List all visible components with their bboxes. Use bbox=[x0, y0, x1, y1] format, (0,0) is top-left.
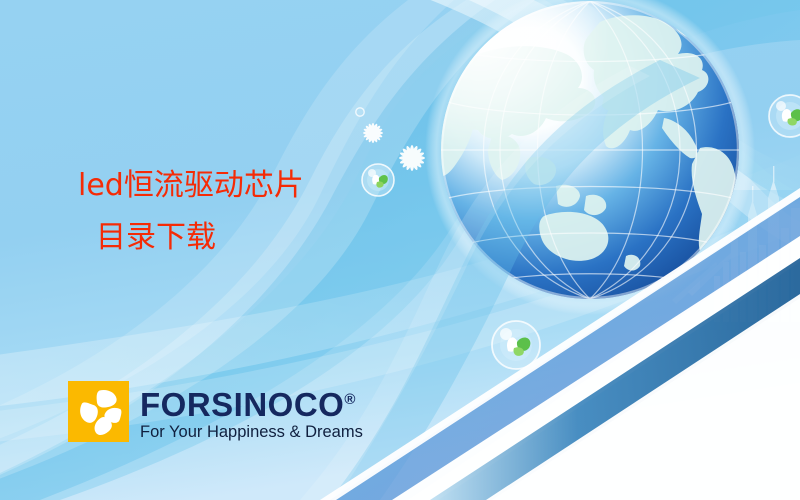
sparkle-asterisk bbox=[399, 145, 425, 171]
four-petal-flower-icon bbox=[68, 381, 129, 442]
banner-image: led恒流驱动芯片 目录下载 FORSINOCO® For Your Happi… bbox=[0, 0, 800, 500]
brand-name: FORSINOCO bbox=[140, 386, 344, 423]
registered-mark-icon: ® bbox=[344, 391, 356, 408]
brand-logo: FORSINOCO® For Your Happiness & Dreams bbox=[68, 381, 363, 442]
bubble-globe bbox=[492, 321, 540, 369]
bubble-globe bbox=[362, 164, 394, 196]
sparkle-asterisk bbox=[363, 123, 383, 143]
brand-tagline: For Your Happiness & Dreams bbox=[140, 423, 363, 442]
brand-wordmark: FORSINOCO® bbox=[140, 383, 363, 422]
